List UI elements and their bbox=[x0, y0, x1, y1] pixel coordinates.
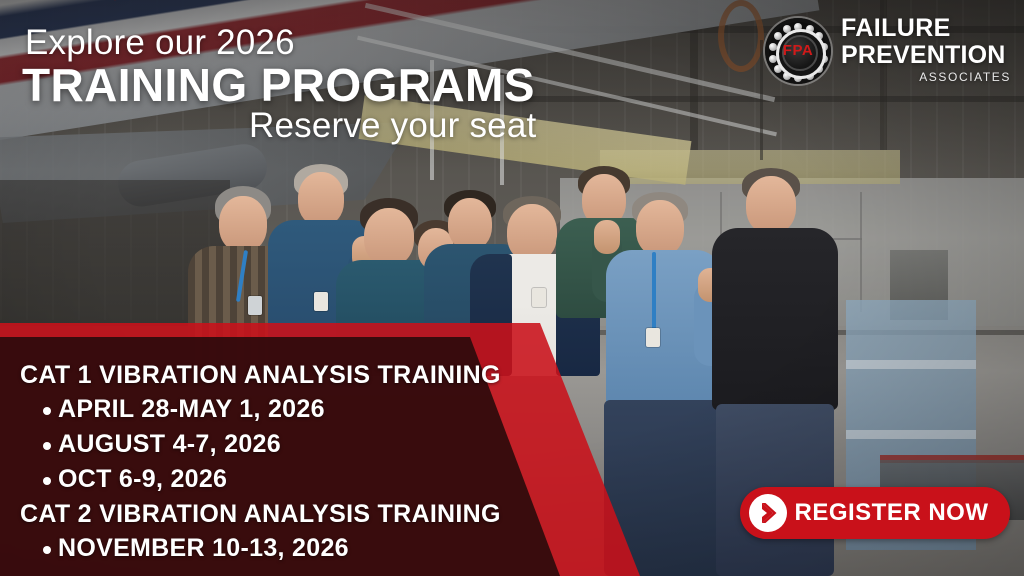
bullet-dot bbox=[43, 442, 51, 450]
headline-line-3: Reserve your seat bbox=[249, 106, 536, 146]
headline-line-2: TRAINING PROGRAMS bbox=[22, 58, 535, 112]
headline-line-1: Explore our 2026 bbox=[25, 23, 295, 63]
course-date-item: APRIL 28-MAY 1, 2026 bbox=[58, 395, 325, 424]
logo-line-prevention: PREVENTION bbox=[841, 42, 1011, 69]
course-title-cat1: CAT 1 VIBRATION ANALYSIS TRAINING bbox=[20, 361, 501, 390]
course-date-item: OCT 6-9, 2026 bbox=[58, 465, 227, 494]
bullet-dot bbox=[43, 477, 51, 485]
register-now-button[interactable]: REGISTER NOW bbox=[740, 487, 1010, 539]
course-date-item: AUGUST 4-7, 2026 bbox=[58, 430, 281, 459]
banner-content: CAT 1 VIBRATION ANALYSIS TRAINING APRIL … bbox=[0, 337, 560, 576]
register-now-label: REGISTER NOW bbox=[787, 499, 1010, 527]
bullet-dot bbox=[43, 546, 51, 554]
brand-logo[interactable]: FPA FAILURE PREVENTION ASSOCIATES bbox=[765, 15, 1011, 93]
logo-line-associates: ASSOCIATES bbox=[841, 69, 1011, 85]
promo-banner-stage: American bbox=[0, 0, 1024, 576]
ball-bearing-icon: FPA bbox=[765, 18, 831, 84]
chevron-right-icon bbox=[749, 494, 787, 532]
logo-line-failure: FAILURE bbox=[841, 15, 1011, 42]
course-title-cat2: CAT 2 VIBRATION ANALYSIS TRAINING bbox=[20, 500, 501, 529]
course-date-item: NOVEMBER 10-13, 2026 bbox=[58, 534, 349, 563]
logo-wordmark: FAILURE PREVENTION ASSOCIATES bbox=[841, 15, 1011, 85]
bullet-dot bbox=[43, 407, 51, 415]
logo-monogram: FPA bbox=[765, 42, 831, 59]
